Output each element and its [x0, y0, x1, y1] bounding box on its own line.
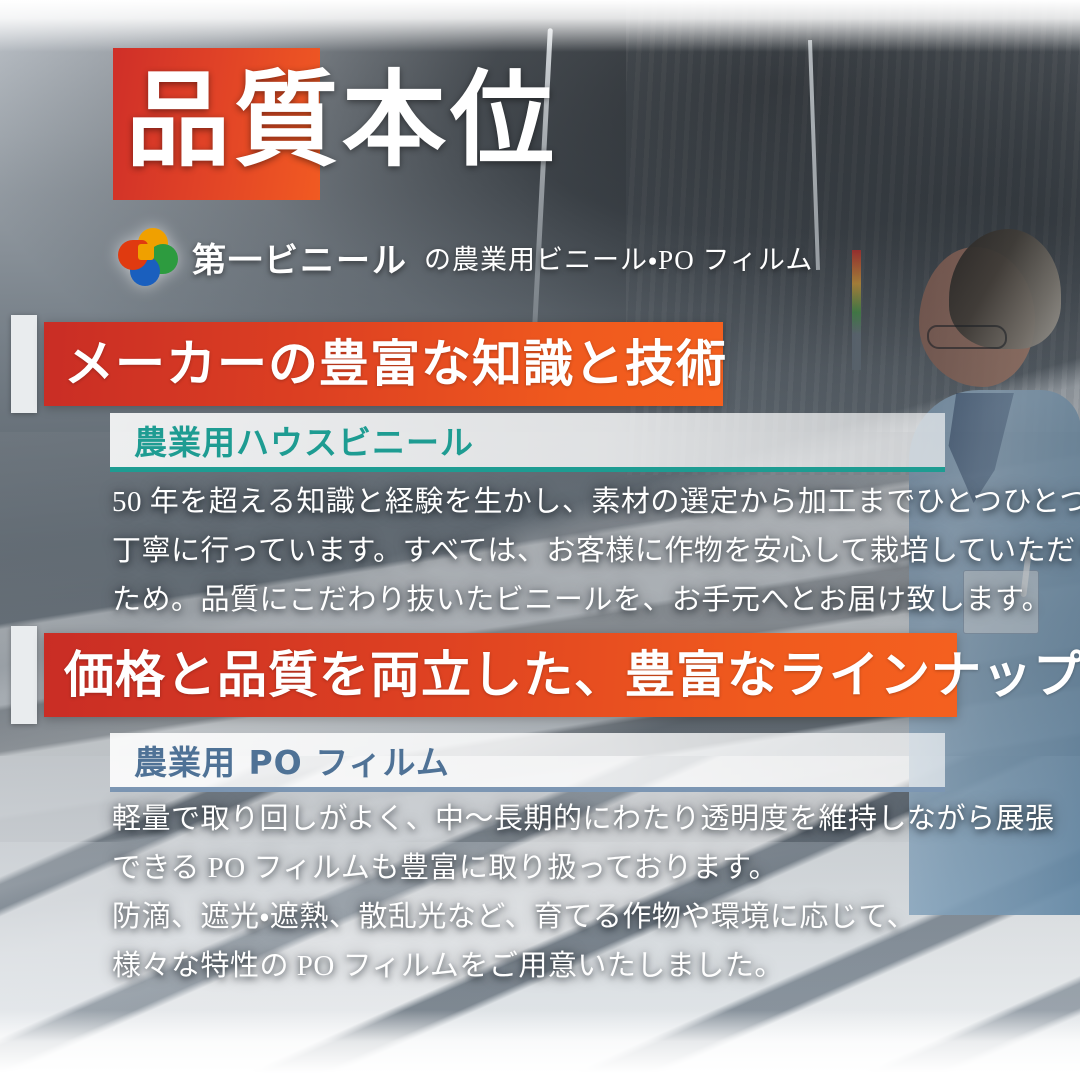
brand-line: 第一ビニール の農業用ビニール・PO フィルム	[118, 228, 813, 286]
section-2-banner-label: 価格と品質を両立した、豊富なラインナップ	[44, 650, 1080, 700]
section-1-subheading-label: 農業用ハウスビニール	[110, 416, 474, 464]
section-2-tick-bar	[11, 626, 37, 724]
section-1-banner-label: メーカーの豊富な知識と技術	[44, 339, 727, 389]
section-1-body-line-1: 50 年を超える知識と経験を生かし、素材の選定から加工までひとつひとつ	[112, 478, 1080, 527]
hero-title: 品質本位	[126, 55, 558, 189]
section-2-body-line-4: 様々な特性の PO フィルムをご用意いたしました。	[112, 942, 1055, 991]
section-1-subheading: 農業用ハウスビニール	[110, 413, 945, 467]
logo-petal-center	[138, 244, 154, 260]
section-2-body: 軽量で取り回しがよく、中〜長期的にわたり透明度を維持しながら展張 できる PO …	[112, 795, 1055, 991]
section-2-body-line-3: 防滴、遮光・遮熱、散乱光など、育てる作物や環境に応じて、	[112, 893, 1055, 942]
section-1-body: 50 年を超える知識と経験を生かし、素材の選定から加工までひとつひとつ 丁寧に行…	[112, 478, 1080, 625]
section-1-banner: メーカーの豊富な知識と技術	[44, 322, 723, 406]
section-2-banner: 価格と品質を両立した、豊富なラインナップ	[44, 633, 957, 717]
section-1-body-line-3: ため。品質にこだわり抜いたビニールを、お手元へとお届け致します。	[112, 576, 1080, 625]
dainichi-flower-logo-icon	[118, 228, 176, 286]
section-2-subheading: 農業用 PO フィルム	[110, 733, 945, 787]
brand-name: 第一ビニール	[192, 233, 408, 282]
content-layer: 品質本位 第一ビニール の農業用ビニール・PO フィルム メーカーの豊富な知識と…	[0, 0, 1080, 1080]
section-2-subheading-label: 農業用 PO フィルム	[110, 736, 450, 784]
brand-tagline: の農業用ビニール・PO フィルム	[424, 238, 813, 277]
section-1-body-line-2: 丁寧に行っています。すべては、お客様に作物を安心して栽培していただく	[112, 527, 1080, 576]
promo-banner: 品質本位 第一ビニール の農業用ビニール・PO フィルム メーカーの豊富な知識と…	[0, 0, 1080, 1080]
section-2-body-line-1: 軽量で取り回しがよく、中〜長期的にわたり透明度を維持しながら展張	[112, 795, 1055, 844]
section-1-underline	[110, 467, 945, 472]
section-2-underline	[110, 787, 945, 792]
section-1-tick-bar	[11, 315, 37, 413]
section-2-body-line-2: できる PO フィルムも豊富に取り扱っております。	[112, 844, 1055, 893]
